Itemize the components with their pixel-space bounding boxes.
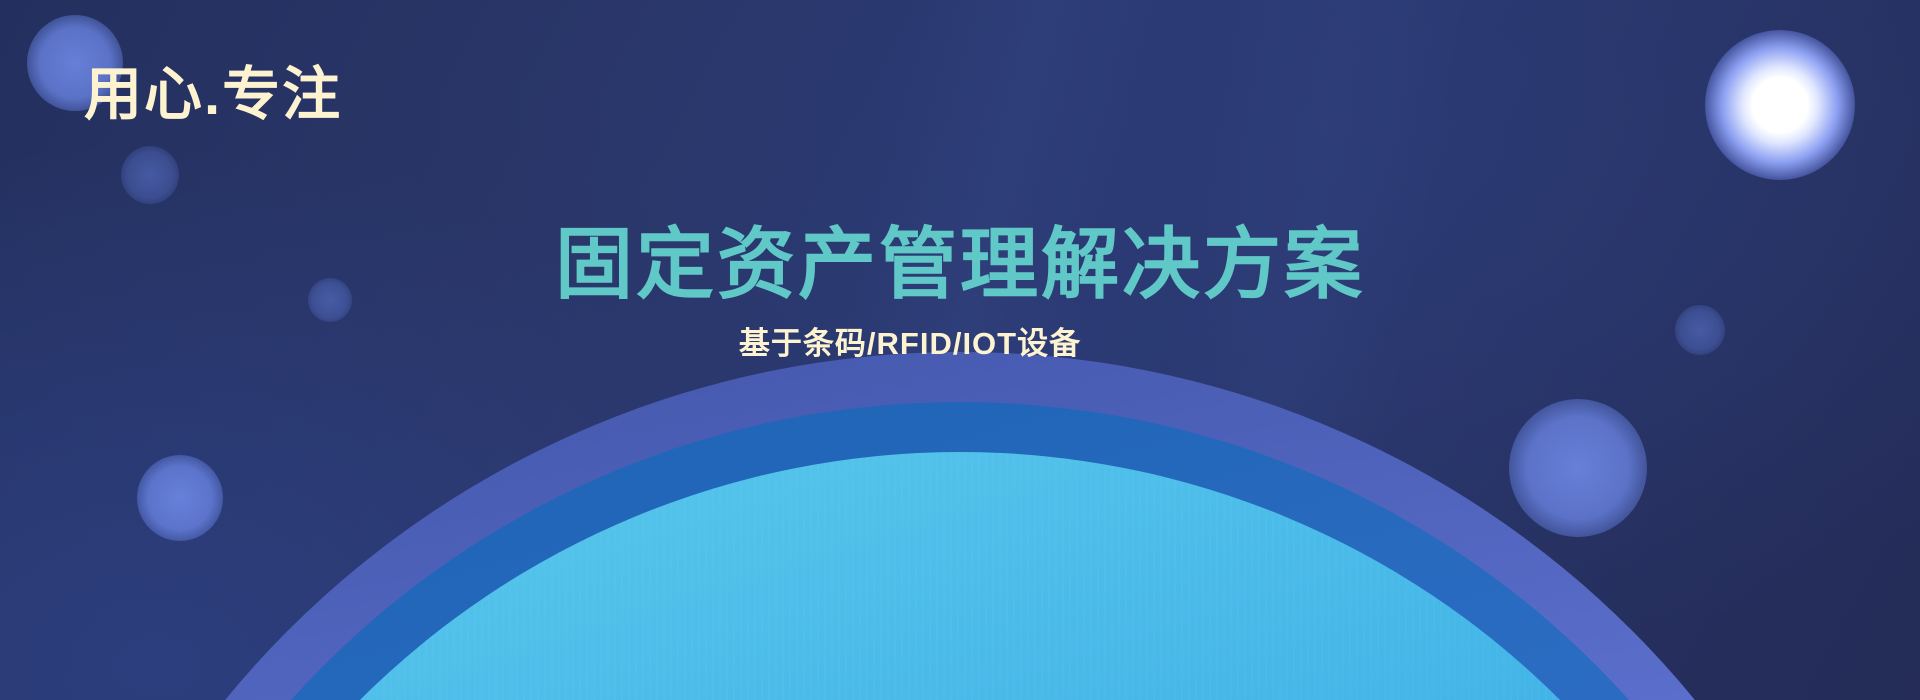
particle-faint-right [1675,305,1725,355]
hero-banner: 用心.专注 固定资产管理解决方案 基于条码/RFID/IOT设备 [0,0,1920,700]
earth-globe [10,352,1910,700]
particle-faint-upper-left [121,146,179,204]
brand-slogan: 用心.专注 [84,63,342,127]
page-title: 固定资产管理解决方案 [0,222,1920,306]
star-glow-large [1705,30,1855,180]
particle-faint-mid-left [308,278,352,322]
headline-block: 固定资产管理解决方案 基于条码/RFID/IOT设备 [0,222,1920,363]
